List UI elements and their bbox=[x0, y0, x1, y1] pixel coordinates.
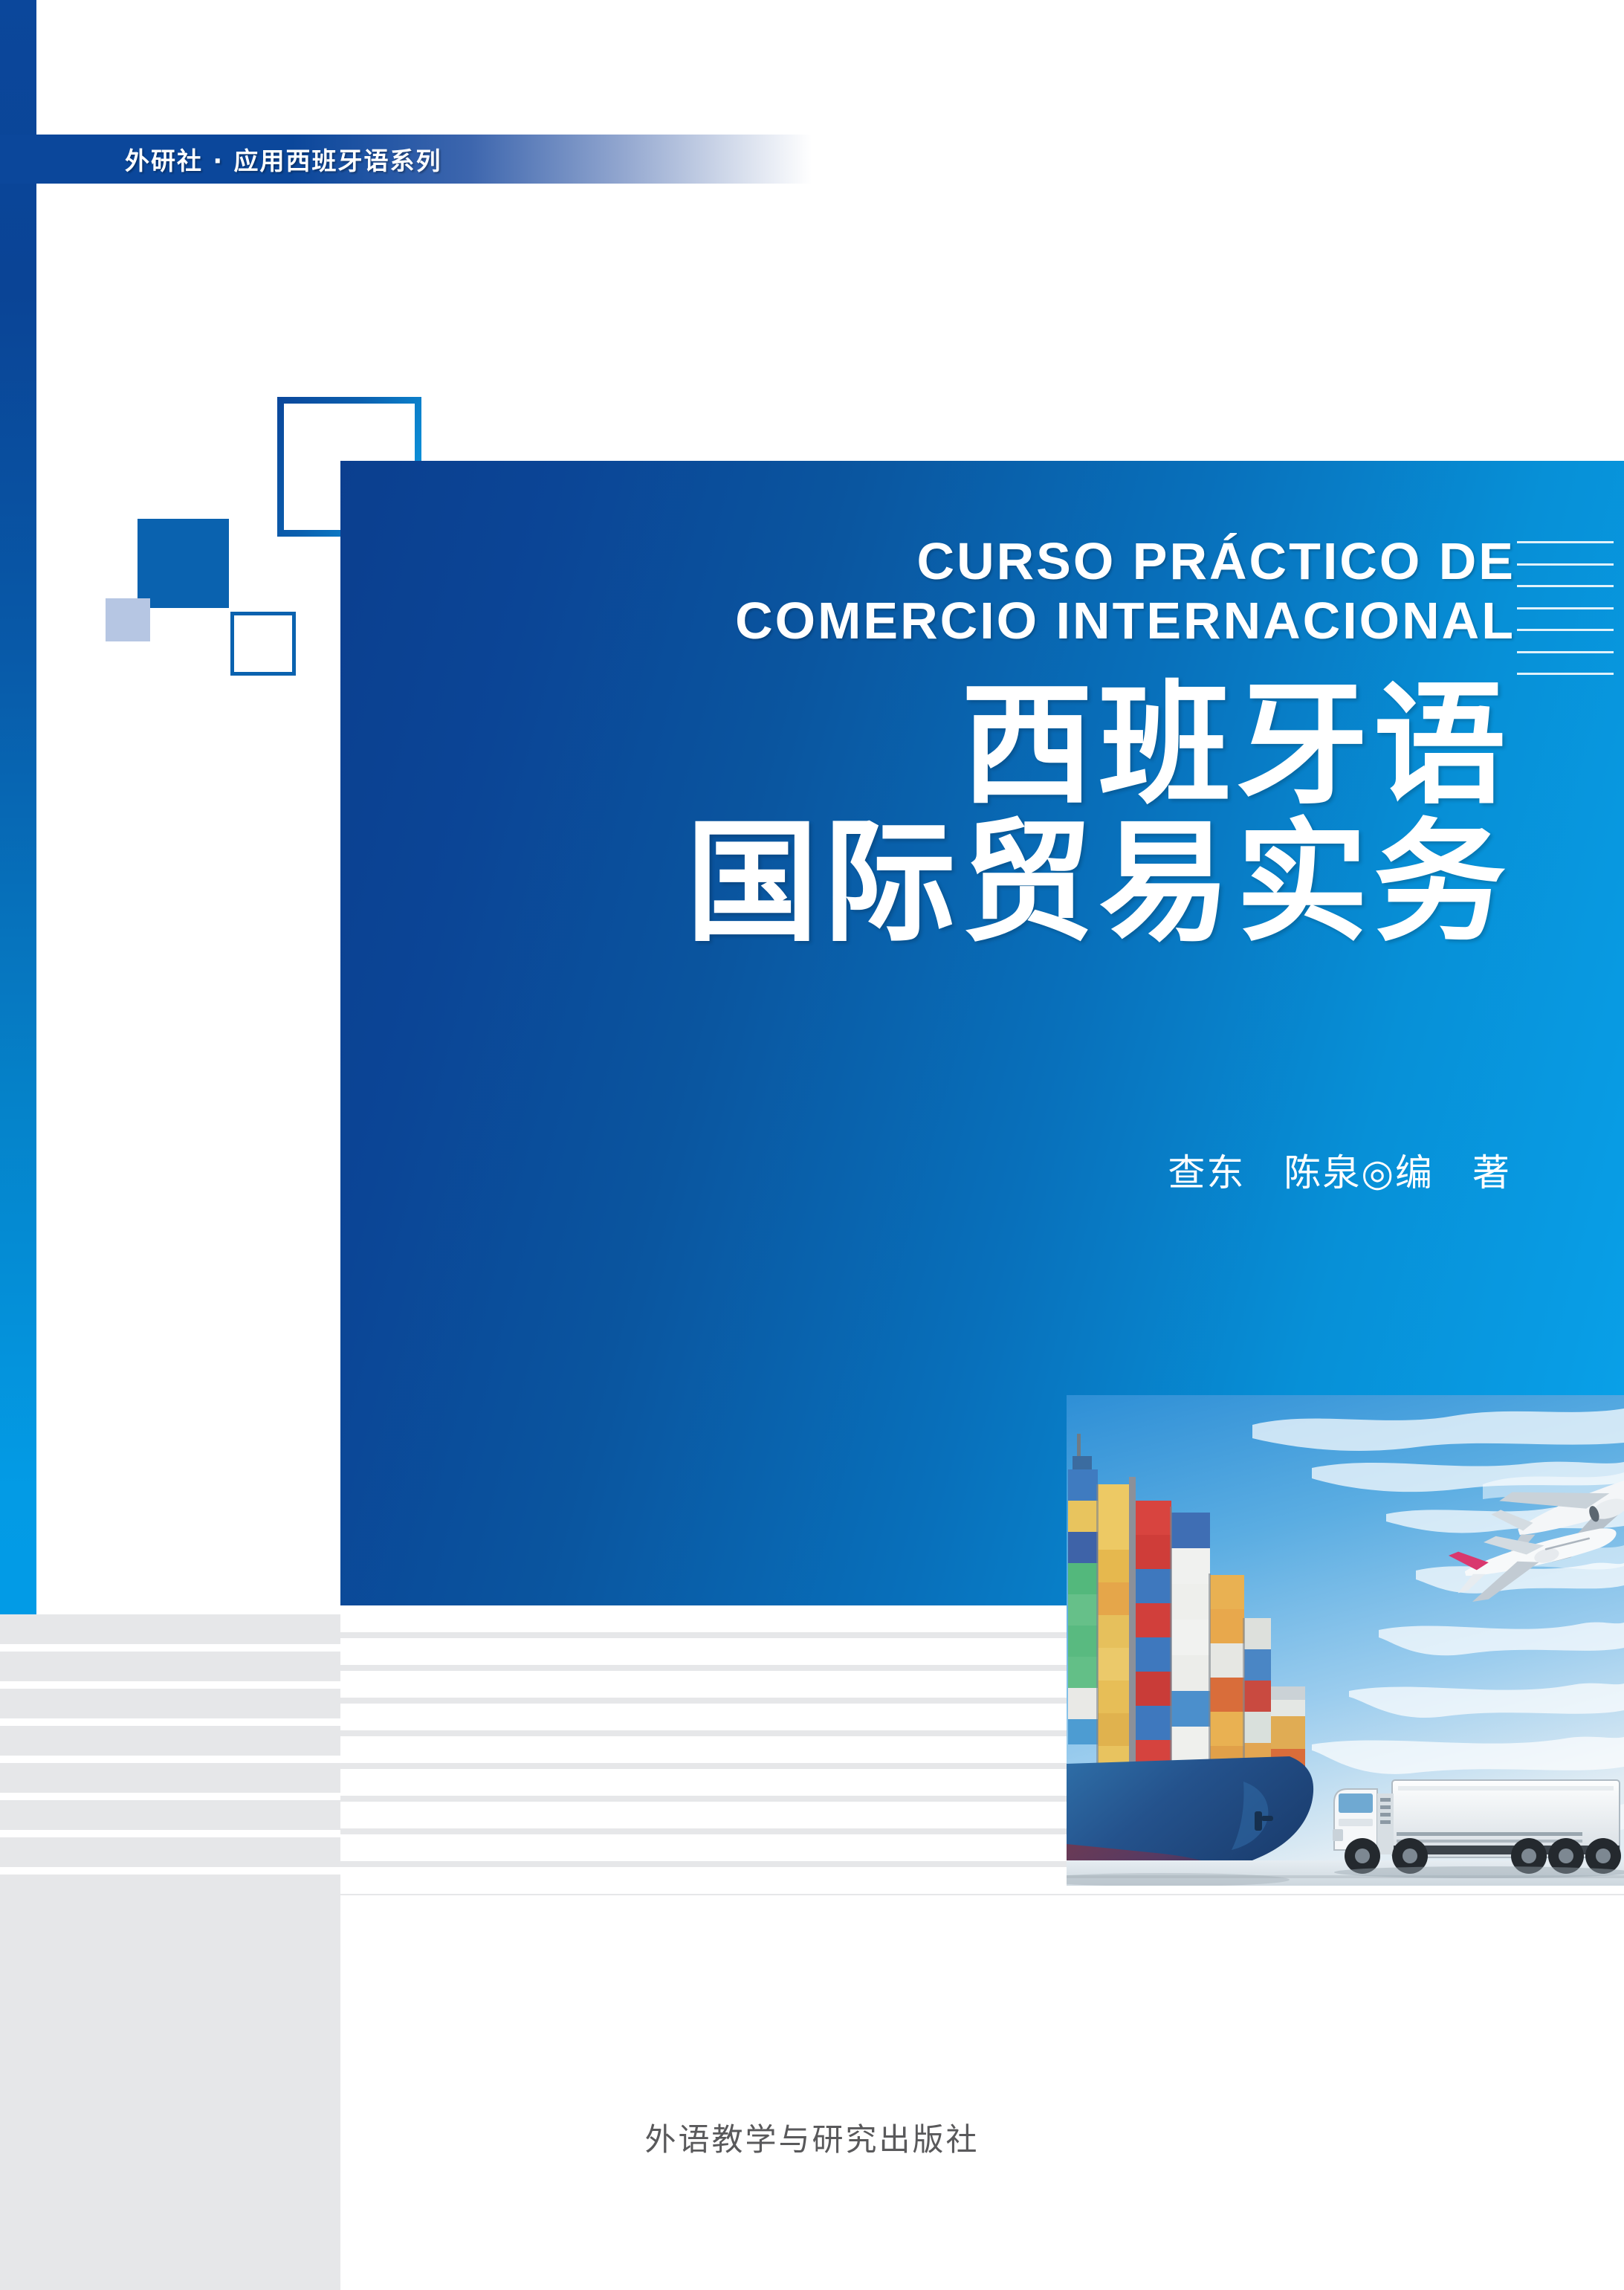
chinese-title-line1: 西班牙语 bbox=[426, 676, 1511, 814]
rule-line-4 bbox=[1517, 607, 1614, 609]
logistics-photo bbox=[1067, 1395, 1624, 1886]
left-gradient-strip bbox=[0, 0, 36, 1614]
chinese-title: 西班牙语 国际贸易实务 bbox=[426, 676, 1511, 951]
rule-line-3 bbox=[1517, 585, 1614, 587]
rule-line-5 bbox=[1517, 629, 1614, 631]
decorative-outline-square-small bbox=[230, 612, 296, 676]
gray-block-bottom-left bbox=[0, 1904, 340, 2290]
logistics-photo-artwork bbox=[1067, 1395, 1624, 1886]
spanish-title-line2: COMERCIO INTERNACIONAL bbox=[415, 592, 1515, 651]
decorative-rule-stack bbox=[1517, 541, 1614, 675]
series-banner-label: 外研社 · 应用西班牙语系列 bbox=[125, 141, 442, 177]
rule-line-6 bbox=[1517, 651, 1614, 653]
spanish-title-line1: CURSO PRÁCTICO DE bbox=[415, 532, 1515, 592]
decorative-light-square-small bbox=[106, 598, 150, 641]
book-cover: 外研社 · 应用西班牙语系列 CURSO PRÁCTICO DE COMERCI… bbox=[0, 0, 1624, 2290]
author-line: 查东 陈泉◎编 著 bbox=[426, 1143, 1511, 1197]
decorative-solid-square-medium bbox=[138, 519, 229, 608]
rule-line-2 bbox=[1517, 563, 1614, 566]
rule-line-7 bbox=[1517, 673, 1614, 675]
series-banner: 外研社 · 应用西班牙语系列 bbox=[0, 135, 812, 184]
stripe-band-left bbox=[0, 1614, 340, 1904]
rule-line-1 bbox=[1517, 541, 1614, 543]
chinese-title-line2: 国际贸易实务 bbox=[426, 814, 1511, 951]
spanish-title: CURSO PRÁCTICO DE COMERCIO INTERNACIONAL bbox=[415, 532, 1515, 651]
publisher-name: 外语教学与研究出版社 bbox=[0, 2115, 1624, 2160]
